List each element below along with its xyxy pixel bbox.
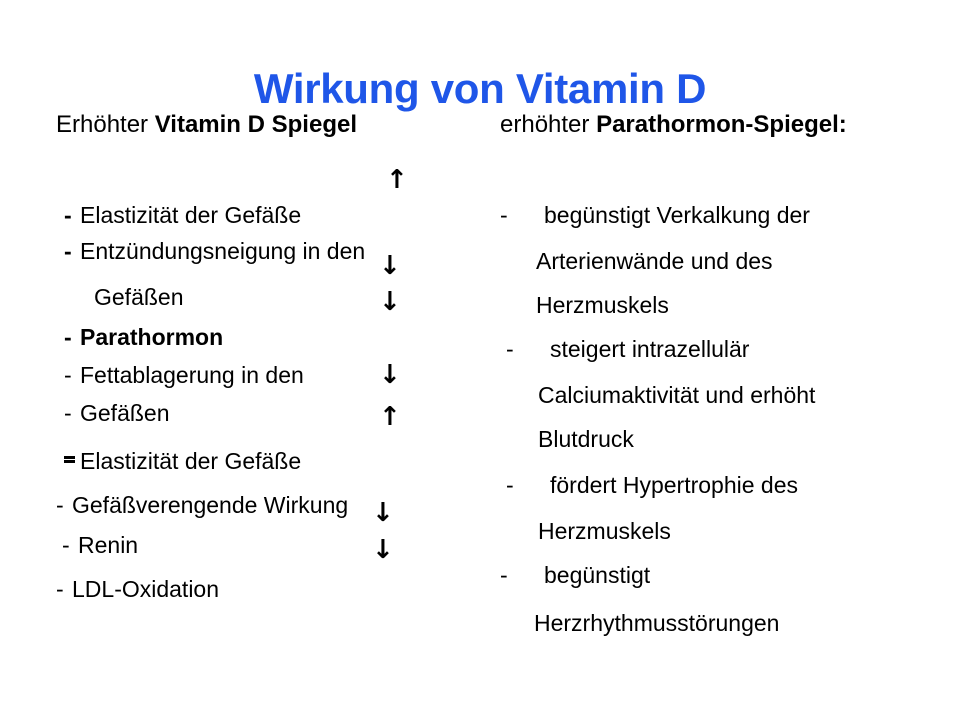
- dash-marker: -: [64, 402, 80, 425]
- arrow-up-icon: ↑: [386, 167, 408, 193]
- right-bullet-item: Herzrhythmusstörungen: [534, 612, 779, 635]
- page-title: Wirkung von Vitamin D: [0, 66, 960, 112]
- left-bullet-item: -Entzündungsneigung in den: [64, 240, 365, 263]
- right-bullet-text: steigert intrazellulär: [550, 336, 749, 362]
- left-bullet-item: -LDL-Oxidation: [56, 578, 219, 601]
- right-bullet-item: Calciumaktivität und erhöht: [538, 384, 815, 407]
- dash-marker: -: [64, 240, 80, 263]
- right-bullet-item: Herzmuskels: [538, 520, 671, 543]
- right-bullet-item: -begünstigt Verkalkung der: [500, 204, 810, 227]
- right-bullet-text: begünstigt: [544, 562, 650, 588]
- right-bullet-text: begünstigt Verkalkung der: [544, 202, 810, 228]
- right-bullet-item: Arterienwände und des: [536, 250, 773, 273]
- arrow-down-icon: ↓: [379, 253, 401, 279]
- left-bullet-text: Gefäßen: [80, 400, 170, 426]
- left-bullet-item: Elastizität der Gefäße: [64, 446, 301, 473]
- right-header-normal: erhöhter: [500, 111, 596, 138]
- left-bullet-item: -Gefäßen: [64, 402, 170, 425]
- dash-marker: -: [64, 326, 80, 349]
- left-bullet-item: Gefäßen: [78, 286, 184, 309]
- left-bullet-text: Elastizität der Gefäße: [80, 202, 301, 228]
- left-header-normal: Erhöhter: [56, 111, 155, 138]
- dash-marker: -: [56, 578, 72, 601]
- right-bullet-item: -steigert intrazellulär: [506, 338, 749, 361]
- dash-marker: -: [506, 338, 550, 361]
- left-bullet-item: -Parathormon: [64, 326, 223, 349]
- left-bullet-text: Gefäßverengende Wirkung: [72, 492, 348, 518]
- left-column: Erhöhter Vitamin D Spiegel -Elastizität …: [46, 110, 486, 616]
- left-bullet-text: Elastizität der Gefäße: [80, 448, 301, 474]
- right-bullet-text: fördert Hypertrophie des: [550, 472, 798, 498]
- left-bullet-item: -Fettablagerung in den: [64, 364, 304, 387]
- right-bullet-text: Calciumaktivität und erhöht: [538, 382, 815, 408]
- right-bullet-list: -begünstigt Verkalkung derArterienwände …: [492, 146, 952, 646]
- left-bullet-text: Renin: [78, 532, 138, 558]
- right-bullet-item: -begünstigt: [500, 564, 650, 587]
- left-column-header: Erhöhter Vitamin D Spiegel: [46, 110, 486, 140]
- right-bullet-item: Blutdruck: [538, 428, 634, 451]
- right-header-bold: Parathormon-Spiegel:: [596, 111, 847, 138]
- dash-marker: -: [500, 564, 544, 587]
- dash-marker: -: [56, 494, 72, 517]
- left-header-bold: Vitamin D Spiegel: [155, 111, 357, 138]
- left-bullet-text: Fettablagerung in den: [80, 362, 304, 388]
- left-bullet-text: Gefäßen: [94, 284, 184, 310]
- right-column-header: erhöhter Parathormon-Spiegel:: [492, 110, 952, 140]
- dash-marker: -: [64, 204, 80, 227]
- dash-marker: -: [64, 364, 80, 387]
- left-bullet-text: LDL-Oxidation: [72, 576, 219, 602]
- double-dash-marker: [64, 446, 80, 469]
- left-bullet-item: -Elastizität der Gefäße: [64, 204, 301, 227]
- left-bullet-text: Parathormon: [80, 324, 223, 350]
- left-bullet-text: Entzündungsneigung in den: [80, 238, 365, 264]
- arrow-down-icon: ↓: [372, 500, 394, 526]
- left-bullet-item: -Gefäßverengende Wirkung: [56, 494, 348, 517]
- arrow-up-icon: ↑: [379, 404, 401, 430]
- left-bullet-list: -Elastizität der Gefäße-Entzündungsneigu…: [46, 146, 486, 616]
- right-bullet-text: Arterienwände und des: [536, 248, 773, 274]
- right-bullet-text: Herzrhythmusstörungen: [534, 610, 779, 636]
- arrow-down-icon: ↓: [379, 362, 401, 388]
- left-bullet-item: -Renin: [62, 534, 138, 557]
- right-column: erhöhter Parathormon-Spiegel: -begünstig…: [492, 110, 952, 646]
- right-bullet-item: Herzmuskels: [536, 294, 669, 317]
- right-bullet-text: Herzmuskels: [536, 292, 669, 318]
- right-bullet-item: -fördert Hypertrophie des: [506, 474, 798, 497]
- dash-marker: -: [62, 534, 78, 557]
- right-bullet-text: Herzmuskels: [538, 518, 671, 544]
- slide-canvas: Wirkung von Vitamin D Erhöhter Vitamin D…: [0, 0, 960, 720]
- arrow-down-icon: ↓: [372, 537, 394, 563]
- right-bullet-text: Blutdruck: [538, 426, 634, 452]
- arrow-down-icon: ↓: [379, 289, 401, 315]
- dash-marker: -: [500, 204, 544, 227]
- dash-marker: -: [506, 474, 550, 497]
